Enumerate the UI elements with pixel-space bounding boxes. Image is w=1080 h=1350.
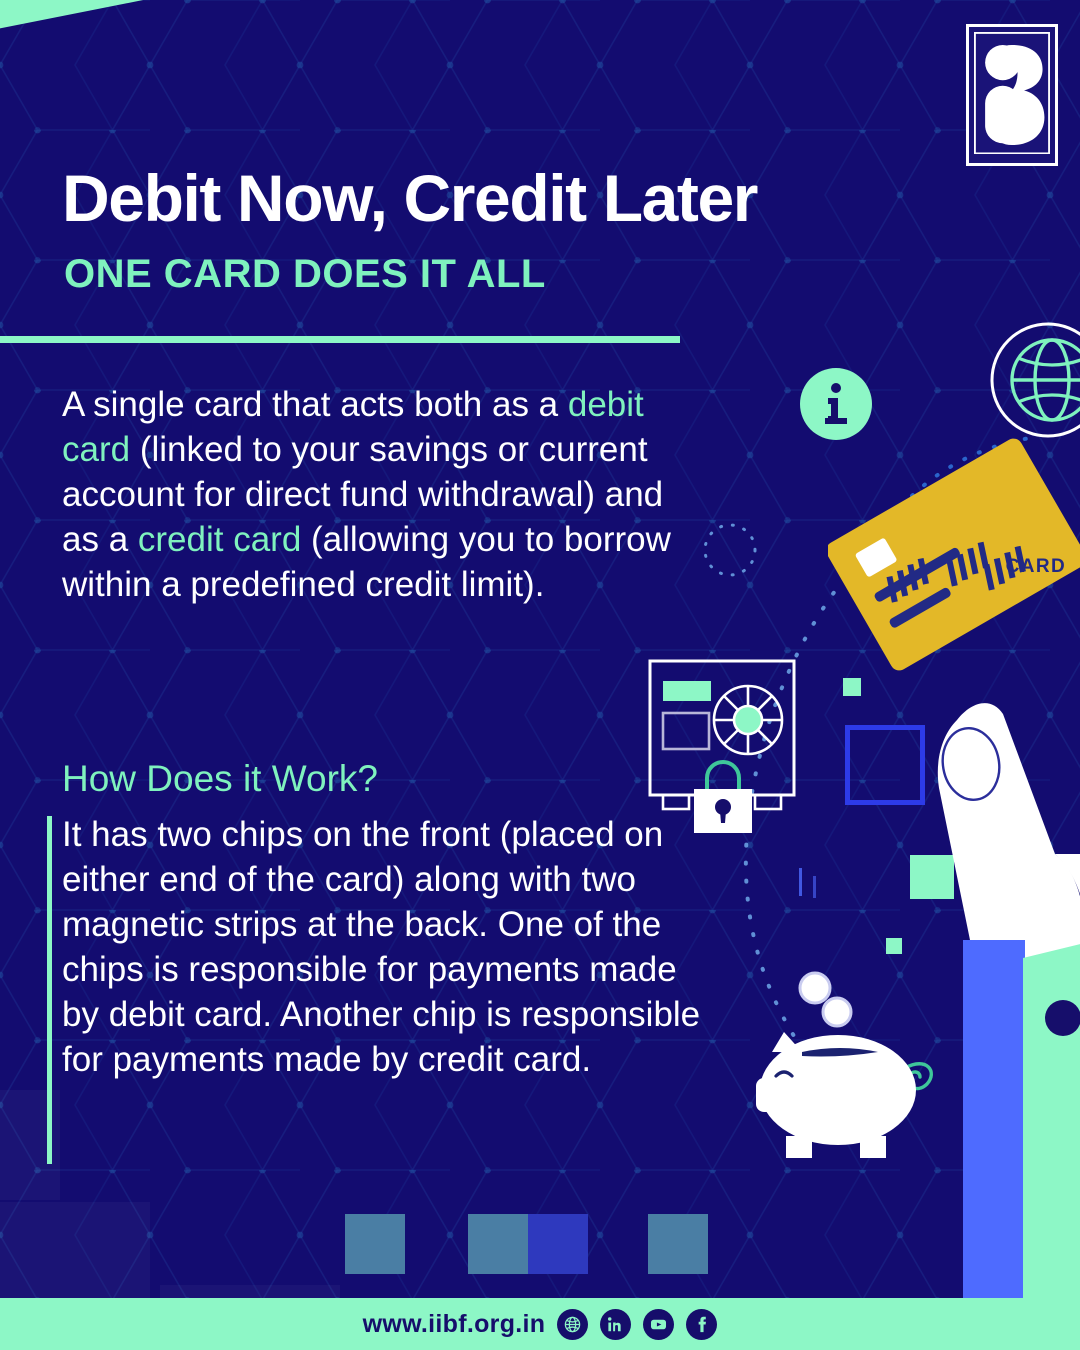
iibf-logo <box>966 24 1058 166</box>
iibf-logo-mark <box>974 32 1050 154</box>
header-divider <box>0 336 680 343</box>
deco-square-1 <box>345 1214 405 1274</box>
linkedin-icon[interactable] <box>600 1309 631 1340</box>
intro-seg-1: A single card that acts both as a <box>62 385 568 424</box>
deco-square-2 <box>468 1214 528 1274</box>
section-heading-how-it-works: How Does it Work? <box>62 758 378 800</box>
intro-paragraph: A single card that acts both as a debit … <box>62 382 702 607</box>
footer-bar: www.iibf.org.in <box>0 1298 1080 1350</box>
category-ribbon: FINANCIAL LITERACY <box>0 0 529 48</box>
facebook-icon[interactable] <box>686 1309 717 1340</box>
padlock-icon <box>690 755 756 833</box>
youtube-icon[interactable] <box>643 1309 674 1340</box>
section-accent-bar <box>47 816 52 1164</box>
deco-softbox-1 <box>0 1202 150 1310</box>
credit-card-illustration: CARD <box>828 418 1080 718</box>
how-it-works-paragraph: It has two chips on the front (placed on… <box>62 812 702 1082</box>
dotted-circle <box>700 520 760 580</box>
intro-highlight-credit-card: credit card <box>138 520 301 559</box>
page-title: Debit Now, Credit Later <box>62 160 757 236</box>
globe-icon[interactable] <box>557 1309 588 1340</box>
page-subtitle: ONE CARD DOES IT ALL <box>64 252 546 297</box>
credit-card-label: CARD <box>1006 556 1067 577</box>
deco-square-4 <box>648 1214 708 1274</box>
infographic-poster: FINANCIAL LITERACY Debit Now, Credit Lat… <box>0 0 1080 1350</box>
sleeve-button <box>1045 1000 1080 1036</box>
hand-holding-card <box>905 640 1080 1350</box>
deco-square-3 <box>528 1214 588 1274</box>
footer-website-url[interactable]: www.iibf.org.in <box>363 1310 546 1339</box>
